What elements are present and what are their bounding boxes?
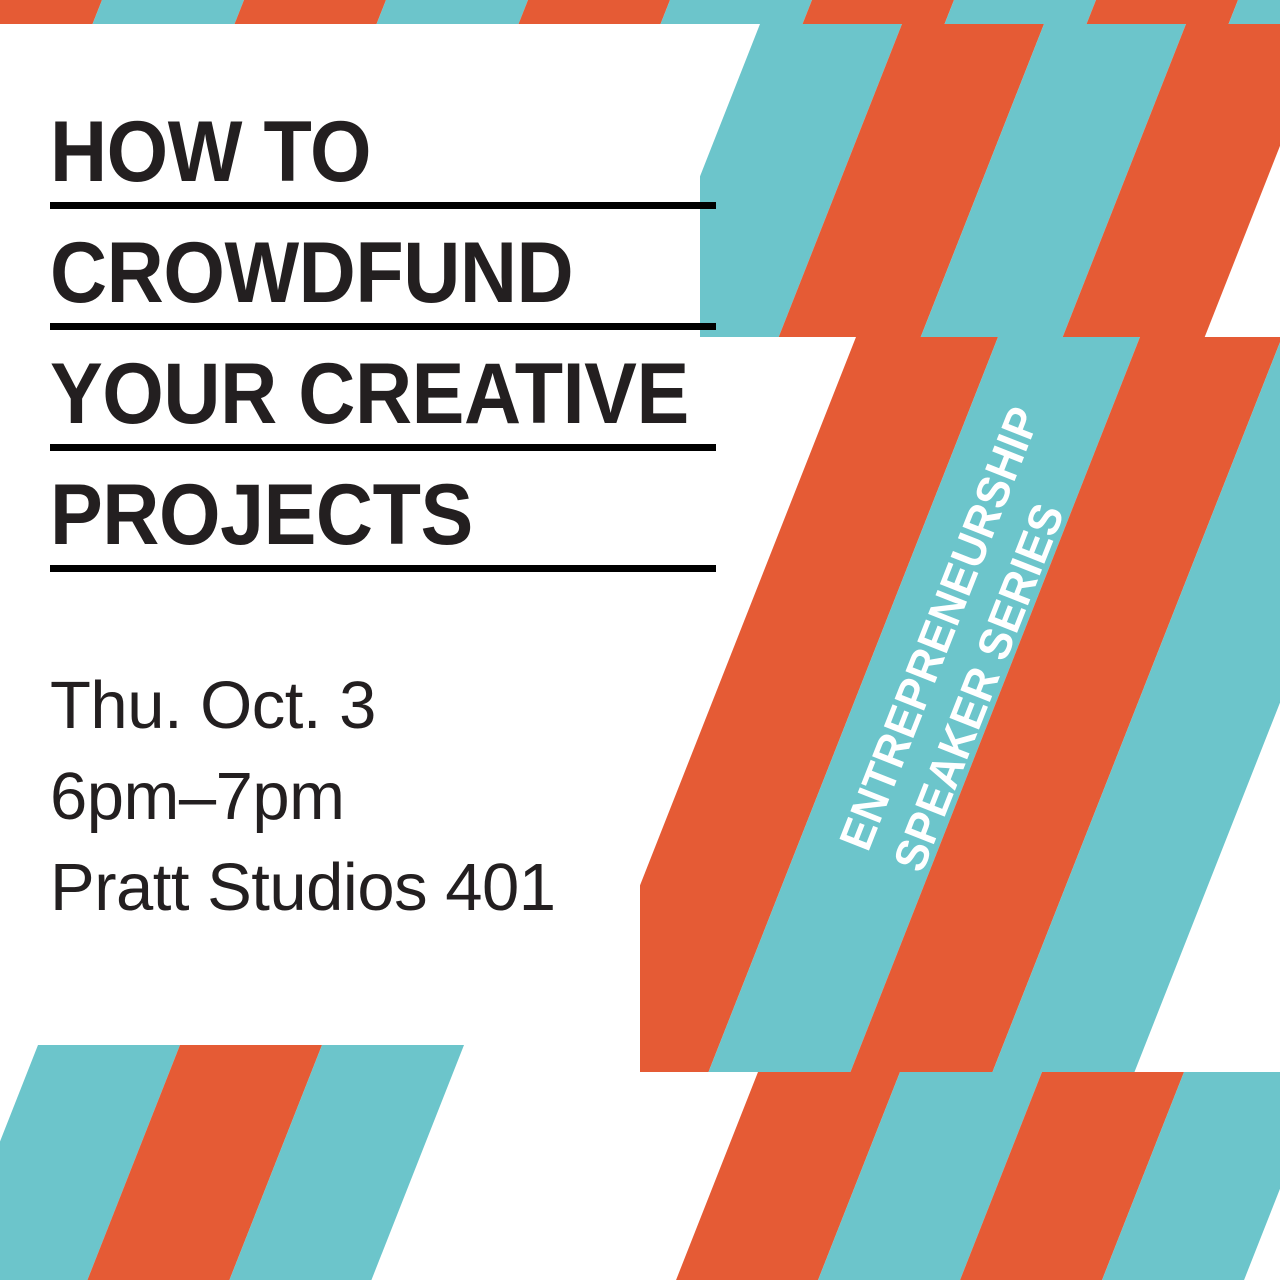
headline-row: CROWDFUND — [50, 225, 716, 330]
decorative-stripe-band-bottom-left — [0, 1045, 470, 1280]
headline-row: PROJECTS — [50, 467, 716, 572]
decorative-stripe-band-bottom-right — [600, 1072, 1280, 1280]
event-poster: HOW TO CROWDFUND YOUR CREATIVE PROJECTS … — [0, 0, 1280, 1280]
stripe-teal — [945, 0, 1096, 24]
stripe-orange — [519, 0, 670, 24]
headline-line-2: CROWDFUND — [50, 225, 663, 321]
stripe-teal — [661, 0, 812, 24]
stripe-orange — [235, 0, 386, 24]
event-details: Thu. Oct. 3 6pm–7pm Pratt Studios 401 — [50, 660, 750, 933]
stripe-orange — [1087, 0, 1238, 24]
headline-row: YOUR CREATIVE — [50, 346, 716, 451]
headline-row: HOW TO — [50, 104, 716, 209]
headline-line-4: PROJECTS — [50, 467, 663, 563]
headline-rule — [50, 323, 716, 330]
poster-headline: HOW TO CROWDFUND YOUR CREATIVE PROJECTS — [50, 104, 716, 588]
stripe-teal — [377, 0, 528, 24]
stripe-teal — [93, 0, 244, 24]
stripe-teal — [1229, 0, 1280, 24]
stripe-orange — [0, 0, 102, 24]
headline-line-1: HOW TO — [50, 104, 663, 200]
headline-rule — [50, 565, 716, 572]
decorative-stripe-band-top — [0, 0, 1280, 24]
event-time: 6pm–7pm — [50, 751, 750, 842]
stripe-orange — [803, 0, 954, 24]
headline-rule — [50, 202, 716, 209]
decorative-stripe-band-upper-right — [700, 24, 1280, 337]
headline-rule — [50, 444, 716, 451]
event-date: Thu. Oct. 3 — [50, 660, 750, 751]
headline-line-3: YOUR CREATIVE — [50, 346, 663, 442]
event-location: Pratt Studios 401 — [50, 842, 750, 933]
